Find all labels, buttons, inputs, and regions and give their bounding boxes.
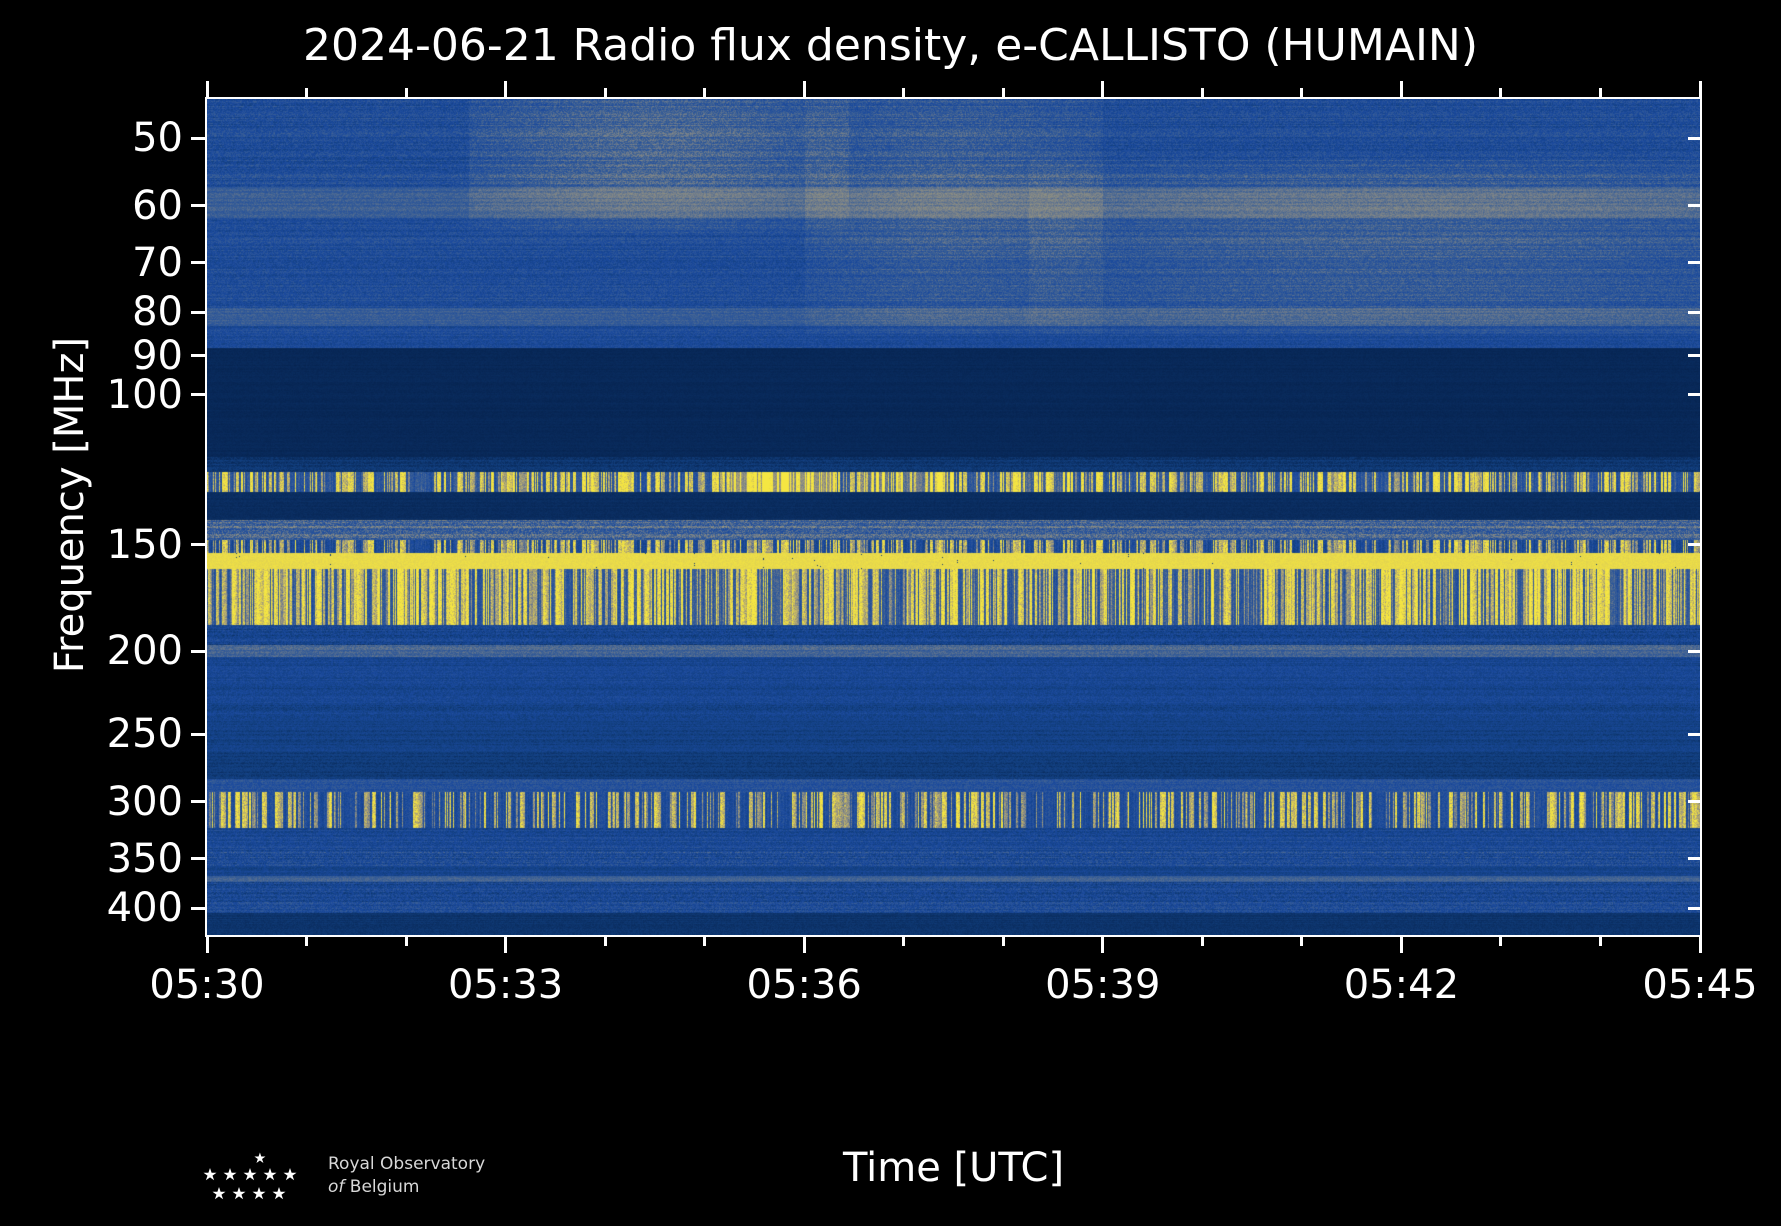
y-tick-label: 150 [107,521,183,569]
top-tick-line [1400,81,1403,97]
x-minor-tick-line [1599,937,1602,946]
right-tick-line [1688,543,1702,546]
logo-of-word: of [328,1177,344,1197]
right-tick-line [1688,261,1702,264]
top-tick-line [703,88,706,97]
top-tick-line [1699,81,1702,97]
x-minor-tick-line [1201,937,1204,946]
spectrogram-figure: 2024-06-21 Radio flux density, e-CALLIST… [0,0,1781,1226]
top-tick-line [1002,88,1005,97]
x-minor-tick-line [1499,937,1502,946]
right-tick-line [1688,733,1702,736]
top-tick-line [305,88,308,97]
x-tick-label: 05:42 [1344,961,1459,1009]
y-axis-label: Frequency [MHz] [47,225,93,785]
y-tick-line [191,393,205,396]
top-tick-line [1599,88,1602,97]
x-tick-line [803,937,806,953]
y-tick-line [191,907,205,910]
royal-observatory-logo: Royal Observatory of Belgium [200,1150,620,1212]
right-tick-line [1688,907,1702,910]
x-tick-label: 05:36 [747,961,862,1009]
right-tick-line [1688,354,1702,357]
top-tick-line [1499,88,1502,97]
y-tick-line [191,354,205,357]
x-minor-tick-line [305,937,308,946]
y-tick-line [191,543,205,546]
top-tick-line [206,81,209,97]
x-minor-tick-line [902,937,905,946]
y-tick-label: 200 [107,627,183,675]
logo-line-1: Royal Observatory [328,1153,608,1176]
y-tick-line [191,650,205,653]
y-tick-label: 250 [107,710,183,758]
y-tick-line [191,857,205,860]
top-tick-line [504,81,507,97]
x-tick-label: 05:45 [1642,961,1757,1009]
y-tick-label: 70 [132,239,183,287]
x-tick-line [1101,937,1104,953]
logo-country: Belgium [350,1177,420,1197]
y-tick-label: 350 [107,835,183,883]
x-tick-label: 05:39 [1045,961,1160,1009]
right-tick-line [1688,311,1702,314]
right-tick-line [1688,204,1702,207]
x-minor-tick-line [1300,937,1303,946]
y-tick-label: 50 [132,114,183,162]
spectrogram-image [207,99,1700,935]
top-tick-line [1300,88,1303,97]
eu-stars-icon [200,1150,320,1208]
y-tick-label: 60 [132,182,183,230]
y-tick-label: 80 [132,288,183,336]
logo-line-2: of Belgium [328,1176,608,1199]
y-tick-line [191,733,205,736]
x-tick-line [504,937,507,953]
y-tick-line [191,800,205,803]
x-minor-tick-line [405,937,408,946]
top-tick-line [1201,88,1204,97]
x-tick-label: 05:33 [448,961,563,1009]
top-tick-line [405,88,408,97]
x-tick-label: 05:30 [149,961,264,1009]
logo-text: Royal Observatory of Belgium [328,1153,608,1199]
x-minor-tick-line [703,937,706,946]
y-tick-line [191,311,205,314]
y-tick-line [191,204,205,207]
top-tick-line [803,81,806,97]
x-minor-tick-line [604,937,607,946]
top-tick-line [902,88,905,97]
y-tick-line [191,137,205,140]
x-tick-line [206,937,209,953]
page-title: 2024-06-21 Radio flux density, e-CALLIST… [0,20,1781,71]
right-tick-line [1688,857,1702,860]
right-tick-line [1688,137,1702,140]
right-tick-line [1688,393,1702,396]
y-tick-label: 400 [107,884,183,932]
y-tick-label: 100 [107,371,183,419]
top-tick-line [1101,81,1104,97]
plot-area [205,97,1702,937]
x-minor-tick-line [1002,937,1005,946]
y-tick-label: 300 [107,778,183,826]
right-tick-line [1688,800,1702,803]
right-tick-line [1688,650,1702,653]
y-tick-line [191,261,205,264]
x-tick-line [1699,937,1702,953]
x-tick-line [1400,937,1403,953]
top-tick-line [604,88,607,97]
